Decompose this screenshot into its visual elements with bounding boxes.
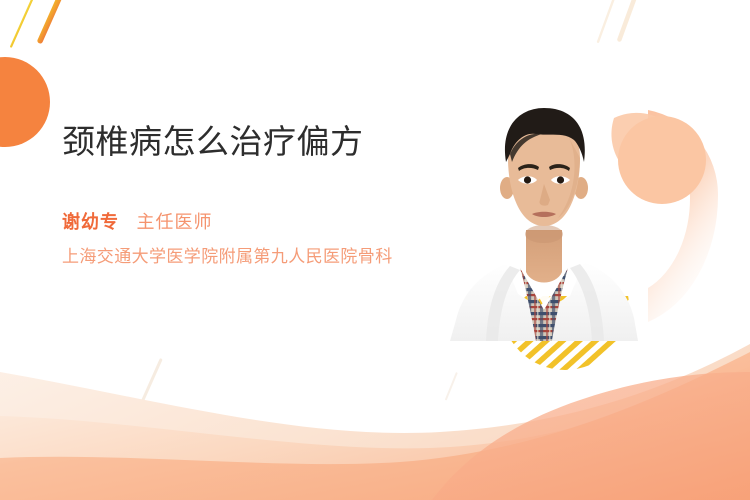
text-block: 颈椎病怎么治疗偏方 谢幼专 主任医师 上海交通大学医学院附属第九人民医院骨科 bbox=[62, 120, 454, 269]
doctor-professional-title: 主任医师 bbox=[136, 212, 212, 232]
top-left-diagonal-stripes bbox=[10, 0, 79, 48]
doctor-article-cover-card: 颈椎病怎么治疗偏方 谢幼专 主任医师 上海交通大学医学院附属第九人民医院骨科 bbox=[0, 0, 750, 500]
doctor-portrait bbox=[444, 96, 644, 341]
left-orange-circle bbox=[0, 57, 50, 147]
page-title: 颈椎病怎么治疗偏方 bbox=[62, 120, 407, 164]
top-right-diagonal-stripes bbox=[597, 0, 651, 43]
lower-right-thin-stripe bbox=[445, 372, 458, 401]
lower-left-thin-stripe bbox=[141, 358, 162, 401]
doctor-affiliation: 上海交通大学医学院附属第九人民医院骨科 bbox=[62, 245, 444, 269]
doctor-byline: 谢幼专 主任医师 bbox=[62, 208, 454, 234]
bottom-wave-strong bbox=[432, 372, 750, 500]
bottom-wave-pale bbox=[0, 344, 750, 500]
bottom-wave-light bbox=[0, 366, 750, 500]
doctor-name: 谢幼专 bbox=[62, 212, 119, 232]
bottom-wave-mid bbox=[0, 352, 750, 500]
